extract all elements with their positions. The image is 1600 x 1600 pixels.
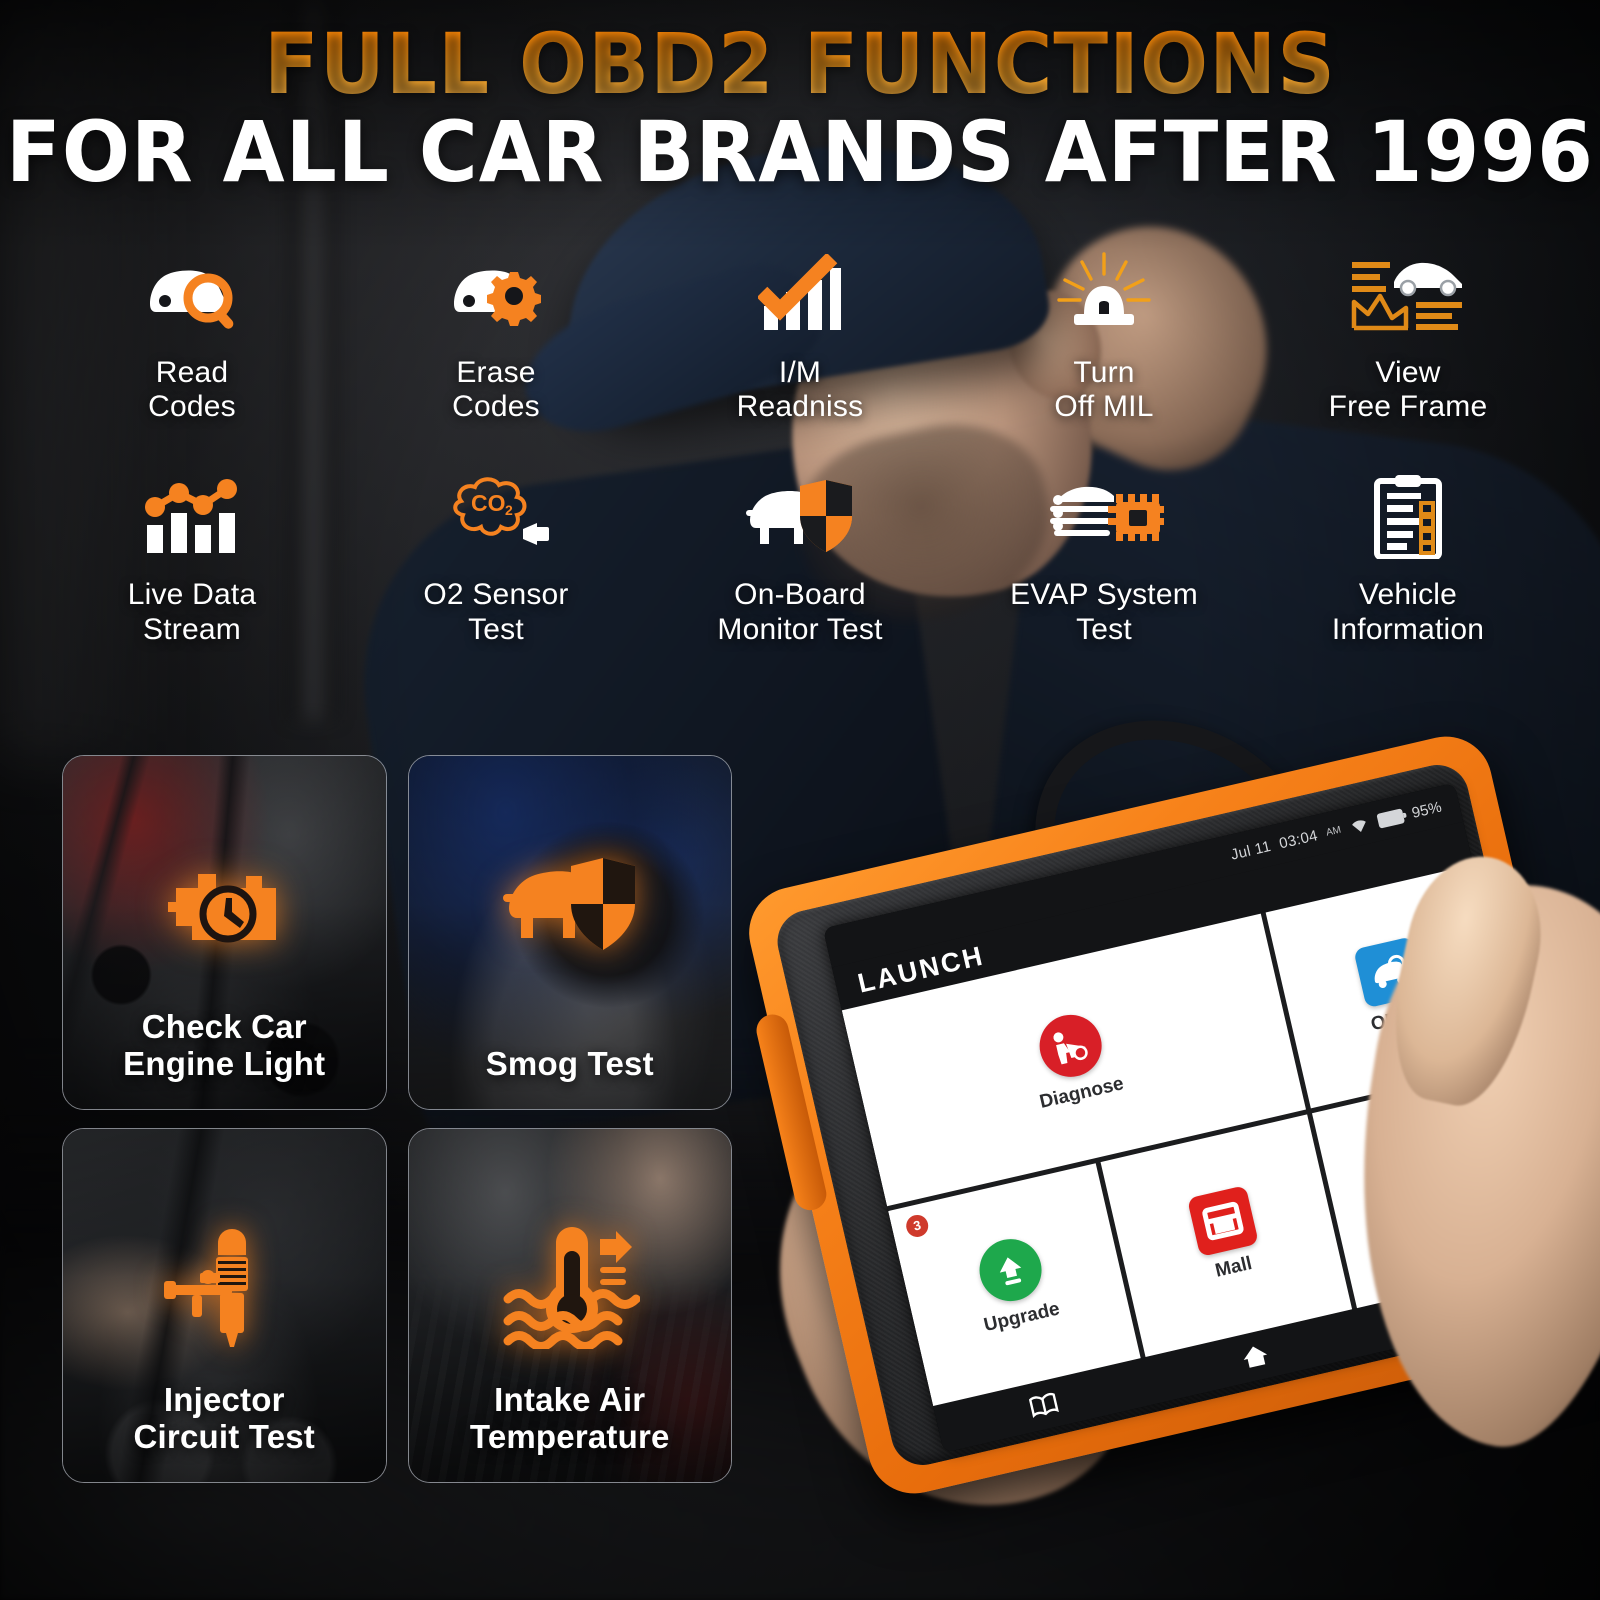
status-ampm: AM	[1325, 824, 1342, 838]
car-magnifier-icon	[140, 248, 244, 340]
feature-label: Live Data Stream	[128, 578, 257, 646]
card-injector-circuit-test[interactable]: Injector Circuit Test	[62, 1128, 387, 1483]
tile-label: Mall	[1213, 1253, 1254, 1283]
upload-arrow-icon	[974, 1233, 1048, 1307]
wifi-icon	[1348, 816, 1371, 835]
card-row-1: Check Car Engine Light Smog Test	[62, 755, 732, 1110]
feature-view-free-frame: View Free Frame	[1256, 248, 1560, 424]
feature-erase-codes: Erase Codes	[344, 248, 648, 424]
headline-line-2: FOR ALL CAR BRANDS AFTER 1996	[0, 110, 1600, 196]
card-title: Check Car Engine Light	[115, 1009, 333, 1083]
tile-label: Diagnose	[1038, 1073, 1126, 1114]
feature-label: I/M Readniss	[737, 356, 864, 424]
car-chart-lines-icon	[1350, 248, 1466, 340]
tile-label: Upgrade	[982, 1299, 1062, 1338]
feature-label: View Free Frame	[1329, 356, 1488, 424]
launch-scan-tool: Jul 11 03:04 AM 95% LAUNCH	[760, 735, 1600, 1565]
feature-vehicle-information: Vehicle Information	[1256, 470, 1560, 646]
warning-beacon-icon	[1056, 248, 1152, 340]
headline-block: FULL OBD2 FUNCTIONS FOR ALL CAR BRANDS A…	[0, 22, 1600, 195]
car-gear-icon	[444, 248, 548, 340]
thermometer-waves-icon	[409, 1225, 732, 1349]
status-date: Jul 11	[1229, 837, 1272, 863]
feature-im-readiness: I/M Readniss	[648, 248, 952, 424]
co2-exhaust-icon: CO 2	[441, 470, 551, 562]
shop-icon	[1187, 1185, 1259, 1257]
bar-line-chart-icon	[143, 470, 241, 562]
car-chip-icon	[1044, 470, 1164, 562]
car-shield-icon	[742, 470, 858, 562]
card-check-engine-light[interactable]: Check Car Engine Light	[62, 755, 387, 1110]
feature-row-1: Read Codes Erase Codes	[40, 248, 1560, 424]
feature-live-data-stream: Live Data Stream	[40, 470, 344, 646]
feature-label: EVAP System Test	[1010, 578, 1198, 646]
card-smog-test[interactable]: Smog Test	[408, 755, 733, 1110]
feature-label: On-Board Monitor Test	[717, 578, 882, 646]
diagnose-mechanic-icon	[1034, 1008, 1108, 1082]
feature-turn-off-mil: Turn Off MIL	[952, 248, 1256, 424]
home-icon[interactable]	[1239, 1341, 1272, 1371]
feature-read-codes: Read Codes	[40, 248, 344, 424]
feature-label: O2 Sensor Test	[423, 578, 568, 646]
svg-text:2: 2	[505, 502, 513, 518]
book-icon[interactable]	[1028, 1391, 1060, 1419]
card-intake-air-temperature[interactable]: Intake Air Temperature	[408, 1128, 733, 1483]
feature-label: Erase Codes	[452, 356, 540, 424]
feature-on-board-monitor-test: On-Board Monitor Test	[648, 470, 952, 646]
battery-percent: 95%	[1410, 798, 1443, 821]
feature-cards: Check Car Engine Light Smog Test	[62, 755, 732, 1483]
upgrade-badge: 3	[904, 1212, 930, 1238]
battery-icon	[1376, 808, 1405, 828]
card-title: Injector Circuit Test	[126, 1382, 323, 1456]
feature-evap-system-test: EVAP System Test	[952, 470, 1256, 646]
check-engine-light-icon	[63, 852, 386, 970]
feature-o2-sensor-test: CO 2 O2 Sensor Test	[344, 470, 648, 646]
car-shield-icon	[409, 852, 732, 956]
card-row-2: Injector Circuit Test	[62, 1128, 732, 1483]
headline-line-1: FULL OBD2 FUNCTIONS	[0, 22, 1600, 108]
feature-label: Read Codes	[148, 356, 236, 424]
clipboard-checklist-icon	[1369, 470, 1447, 562]
card-title: Intake Air Temperature	[462, 1382, 678, 1456]
feature-icon-grid: Read Codes Erase Codes	[40, 248, 1560, 647]
status-time: 03:04	[1278, 827, 1320, 852]
bars-check-icon	[758, 248, 842, 340]
feature-row-2: Live Data Stream CO 2 O2 Sensor Test	[40, 470, 1560, 646]
svg-text:CO: CO	[471, 490, 506, 516]
feature-label: Vehicle Information	[1332, 578, 1484, 646]
card-title: Smog Test	[478, 1046, 662, 1083]
fuel-injector-icon	[63, 1225, 386, 1349]
feature-label: Turn Off MIL	[1054, 356, 1153, 424]
